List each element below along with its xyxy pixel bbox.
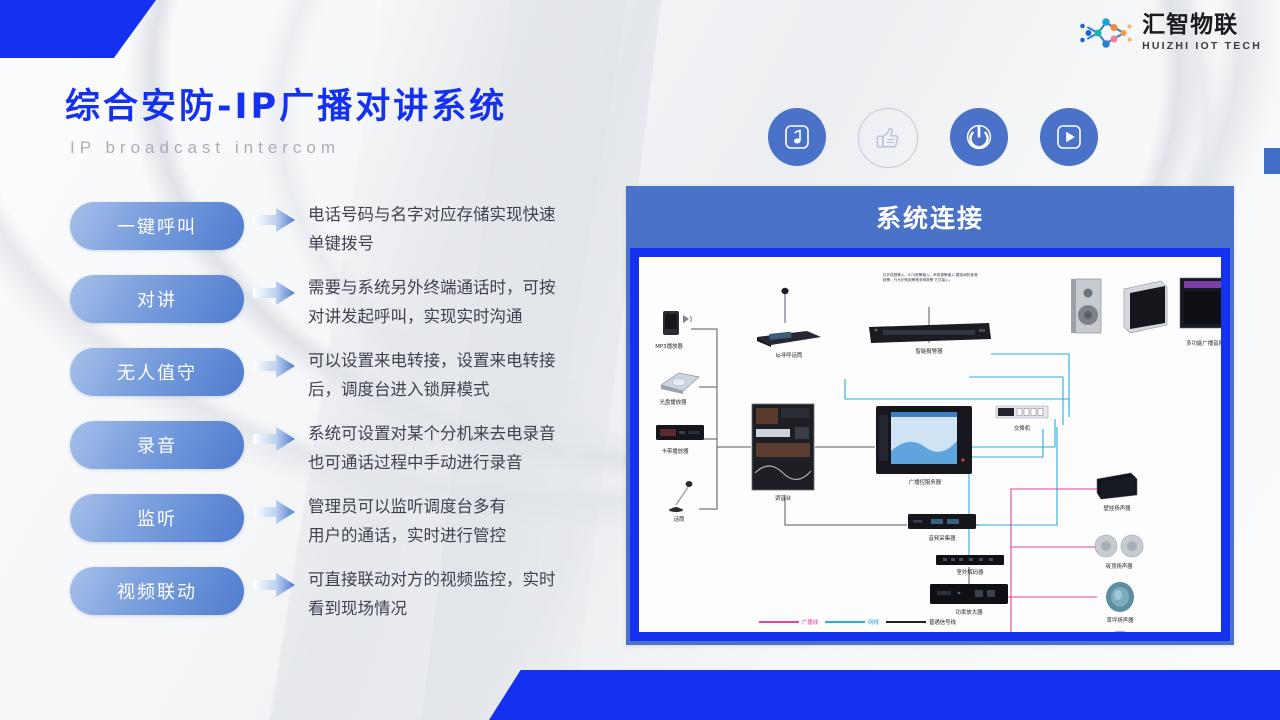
device-label: 音频采集器 (929, 534, 956, 542)
page-subtitle: IP broadcast intercom (70, 138, 340, 158)
device-multi-box-2 (1121, 277, 1169, 335)
music-note-icon (782, 122, 812, 152)
feature-pill-intercom[interactable]: 对讲 (70, 275, 244, 323)
device-label: 交换机 (1014, 424, 1030, 432)
device-mp3-player (661, 309, 695, 339)
feature-description: 管理员可以监听调度台多有 用户的通话，实时进行管控 (308, 491, 506, 550)
arrow-icon-wrap (244, 572, 304, 598)
corner-shape-bottom-right (489, 670, 1280, 720)
diagram-legend: 广播线 网线 普通信号线 (759, 618, 956, 626)
legend-line-dark (886, 621, 926, 622)
feature-pill-label: 对讲 (137, 286, 177, 312)
legend-label: 网线 (868, 618, 879, 626)
network-molecule-icon (1078, 16, 1134, 50)
arrow-icon-wrap (244, 499, 304, 525)
feature-pill-one-key-call[interactable]: 一键呼叫 (70, 202, 244, 250)
device-ceiling-speaker (1091, 533, 1147, 559)
device-label: 壁挂扬声器 (1104, 504, 1131, 512)
icon-row (768, 108, 1098, 168)
device-label: 多功能广播音箱 (1186, 339, 1221, 347)
play-icon-button[interactable] (1040, 108, 1098, 166)
music-note-icon-button[interactable] (768, 108, 826, 166)
device-label: 吸顶扬声器 (1106, 562, 1133, 570)
device-label: 室外解码器 (957, 568, 984, 576)
arrow-right-icon (252, 207, 296, 233)
legend-item-signal: 普通信号线 (886, 618, 956, 626)
logo: 汇智物联 HUIZHI IOT TECH (1078, 14, 1262, 52)
feature-description: 系统可设置对某个分机来去电录音 也可通话过程中手动进行录音 (308, 418, 556, 477)
device-label: 广播控服务器 (909, 478, 941, 486)
device-label: 光盘播放器 (660, 398, 687, 406)
feature-pill-monitoring[interactable]: 监听 (70, 494, 244, 542)
feature-description: 可以设置来电转接，设置来电转接 后，调度台进入锁屏模式 (308, 345, 556, 404)
feature-pill-label: 一键呼叫 (117, 213, 197, 239)
arrow-icon-wrap (244, 353, 304, 379)
device-smart-alarm (867, 317, 993, 345)
feature-description: 需要与系统另外终端通话时，可按 对讲发起呼叫，实现实时沟通 (308, 272, 556, 331)
device-outdoor-decoder (935, 553, 1005, 565)
feature-row: 对讲 需要与系统另外终端通话时，可按 对讲发起呼叫，实现实时沟通 (70, 272, 630, 336)
device-label: 功率放大器 (956, 608, 983, 616)
play-icon (1054, 122, 1084, 152)
accent-block-right (1264, 148, 1280, 174)
device-network-switch (995, 403, 1049, 421)
device-mixer-console (751, 403, 815, 491)
arrow-right-icon (252, 572, 296, 598)
logo-text: 汇智物联 HUIZHI IOT TECH (1142, 14, 1262, 52)
device-cd-player (657, 369, 703, 395)
device-column-speaker (1109, 631, 1131, 632)
device-power-amplifier (929, 583, 1009, 605)
panel-title: 系统连接 (626, 186, 1234, 248)
thumbs-up-icon (872, 122, 904, 154)
power-icon-button[interactable] (950, 108, 1008, 166)
feature-description: 可直接联动对方的视频监控，实时 看到现场情况 (308, 564, 556, 623)
legend-label: 广播线 (802, 618, 818, 626)
system-connection-panel: 系统连接 (626, 186, 1234, 645)
system-diagram: MP3播放器 光盘播放器 卡带播放器 话筒 Ip寻呼话筒 (639, 257, 1221, 632)
page-title: 综合安防-IP广播对讲系统 (65, 78, 507, 129)
feature-list: 一键呼叫 电话号码与名字对应存储实现快速 单键拨号 对讲 (70, 199, 630, 637)
arrow-icon-wrap (244, 207, 304, 233)
device-microphone (663, 479, 697, 513)
logo-name-en: HUIZHI IOT TECH (1142, 41, 1262, 52)
feature-pill-label: 视频联动 (117, 578, 197, 604)
device-wall-speaker (1095, 471, 1139, 501)
device-tape-player (655, 423, 705, 443)
device-label: 卡带播放器 (662, 447, 689, 455)
feature-row: 监听 管理员可以监听调度台多有 用户的通话，实时进行管控 (70, 491, 630, 555)
feature-pill-label: 无人值守 (117, 359, 197, 385)
logo-name-cn: 汇智物联 (1142, 14, 1262, 37)
feature-pill-video-linkage[interactable]: 视频联动 (70, 567, 244, 615)
arrow-icon-wrap (244, 280, 304, 306)
device-label: 智能报警器 (916, 347, 943, 355)
arrow-right-icon (252, 426, 296, 452)
feature-row: 一键呼叫 电话号码与名字对应存储实现快速 单键拨号 (70, 199, 630, 263)
device-ip-paging-mic (749, 287, 825, 349)
legend-label: 普通信号线 (929, 618, 956, 626)
device-label: 草坪扬声器 (1107, 616, 1134, 624)
device-label: Ip寻呼话筒 (776, 351, 803, 359)
device-label: 话筒 (674, 515, 685, 523)
legend-line-pink (759, 621, 799, 622)
device-multi-box-3 (1177, 275, 1221, 333)
corner-shape-top-left (0, 0, 156, 58)
arrow-right-icon (252, 499, 296, 525)
device-multi-box-1 (1069, 277, 1109, 337)
legend-line-cyan (825, 621, 865, 622)
feature-pill-label: 录音 (137, 432, 177, 458)
legend-item-broadcast: 广播线 (759, 618, 818, 626)
device-label: MP3播放器 (655, 342, 683, 350)
device-lawn-speaker (1103, 581, 1137, 613)
thumbs-up-icon-button[interactable] (858, 108, 918, 168)
device-broadcast-server (875, 405, 973, 475)
feature-row: 无人值守 可以设置来电转接，设置来电转接 后，调度台进入锁屏模式 (70, 345, 630, 409)
feature-description: 电话号码与名字对应存储实现快速 单键拨号 (308, 199, 556, 258)
slide: 汇智物联 HUIZHI IOT TECH 综合安防-IP广播对讲系统 IP br… (0, 0, 1280, 720)
power-icon (962, 120, 996, 154)
device-label: 调音台 (775, 494, 791, 502)
arrow-right-icon (252, 280, 296, 306)
feature-pill-label: 监听 (137, 505, 177, 531)
feature-row: 录音 系统可设置对某个分机来去电录音 也可通话过程中手动进行录音 (70, 418, 630, 482)
arrow-right-icon (252, 353, 296, 379)
device-audio-collector (907, 513, 977, 531)
feature-row: 视频联动 可直接联动对方的视频监控，实时 看到现场情况 (70, 564, 630, 628)
diagram-note: 红外线报警入、87V报警输入、声音报警输入 模拟消防音源报警、行为识别报警等多种… (883, 273, 979, 283)
feature-pill-unattended[interactable]: 无人值守 (70, 348, 244, 396)
panel-body: MP3播放器 光盘播放器 卡带播放器 话筒 Ip寻呼话筒 (630, 248, 1230, 641)
legend-item-network: 网线 (825, 618, 879, 626)
feature-pill-recording[interactable]: 录音 (70, 421, 244, 469)
arrow-icon-wrap (244, 426, 304, 452)
